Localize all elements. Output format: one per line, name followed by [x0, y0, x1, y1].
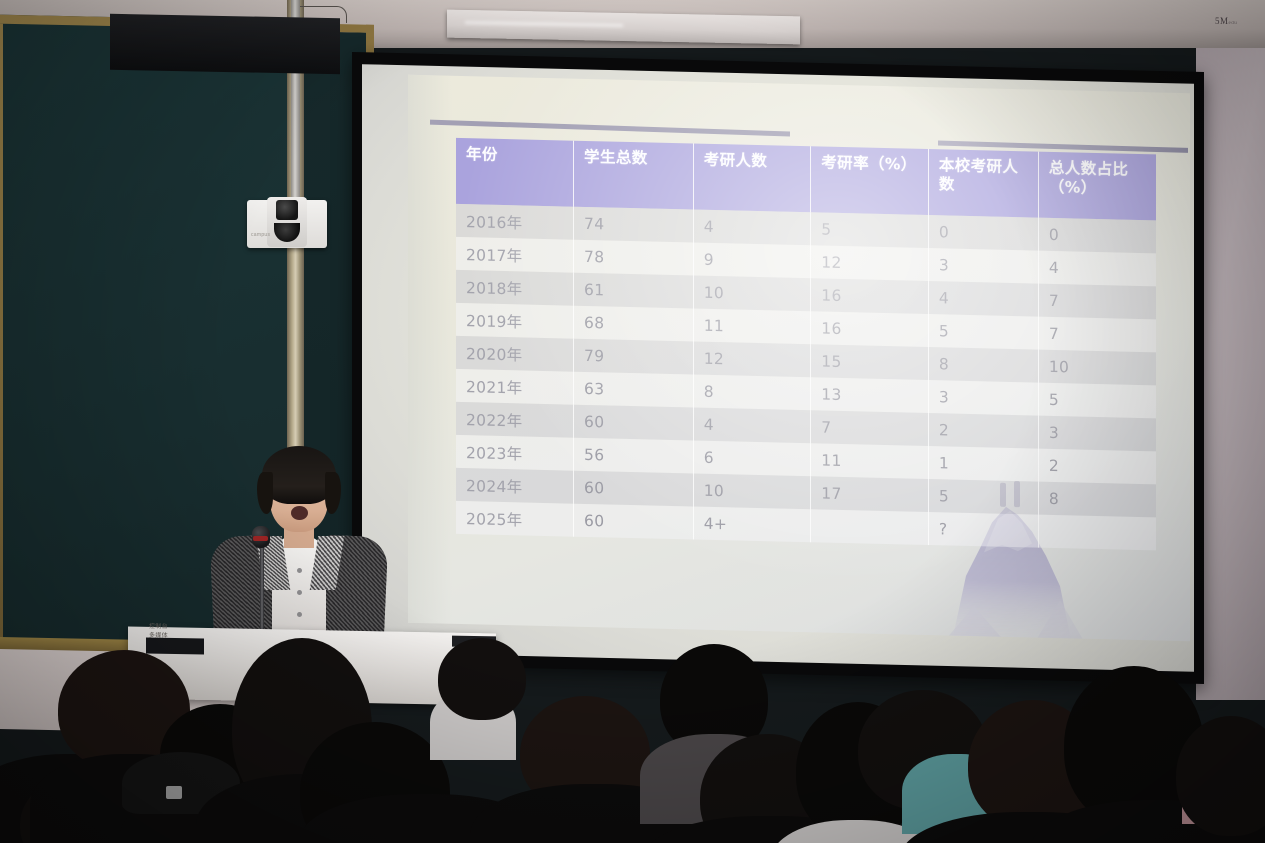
camera-lens-icon [276, 200, 298, 220]
presenter-mouth [291, 506, 308, 520]
statistics-table: 年份 学生总数 考研人数 考研率（%） 本校考研人数 总人数占比（%） 2016… [456, 138, 1156, 550]
cell-own-school-count: 8 [928, 347, 1038, 383]
cell-exam-rate: 12 [811, 245, 929, 281]
cell-total-students: 61 [574, 273, 694, 309]
cell-exam-rate: 15 [811, 344, 929, 380]
cell-total-students: 60 [574, 405, 694, 441]
cell-year: 2023年 [456, 435, 574, 471]
wall-logo-text: 5M [1215, 16, 1229, 26]
cell-share-of-total: 4 [1038, 251, 1156, 287]
cell-exam-rate: 11 [811, 443, 929, 479]
cell-exam-count: 11 [693, 309, 811, 345]
cell-share-of-total: 0 [1038, 218, 1156, 254]
column-header-exam-rate: 考研率（%） [811, 146, 929, 215]
wall-logo-sub: edu [1229, 21, 1238, 26]
cell-share-of-total: 8 [1038, 482, 1156, 518]
cell-share-of-total: 3 [1038, 416, 1156, 452]
camera-dome-icon [274, 223, 300, 242]
podium-monitor-panel [110, 14, 340, 74]
cell-exam-count: 6 [693, 441, 811, 477]
cell-exam-rate: 13 [811, 377, 929, 413]
camera-brand-label: campus [251, 232, 270, 238]
cell-year: 2016年 [456, 204, 574, 240]
presenter-button [297, 568, 302, 573]
slide-accent-bar-left [430, 120, 790, 137]
microphone-indicator [253, 536, 268, 541]
cell-own-school-count: 4 [928, 281, 1038, 317]
audience-head [438, 638, 526, 720]
cell-exam-rate: 17 [811, 476, 929, 512]
cell-exam-count: 9 [693, 243, 811, 279]
cell-own-school-count: 0 [928, 215, 1038, 251]
lecture-hall-photo: 5Medu campus [0, 0, 1265, 843]
cell-own-school-count: 3 [928, 380, 1038, 416]
cap-logo-icon [166, 786, 182, 799]
cell-year: 2019年 [456, 303, 574, 339]
cell-exam-rate: 16 [811, 311, 929, 347]
cell-own-school-count: 3 [928, 248, 1038, 284]
cell-total-students: 60 [574, 504, 694, 540]
cell-exam-count: 4 [693, 210, 811, 246]
cell-exam-rate [811, 509, 929, 545]
presenter-hair [262, 446, 336, 504]
cell-exam-rate: 16 [811, 278, 929, 314]
cell-exam-count: 12 [693, 342, 811, 378]
ptz-camera: campus [247, 200, 327, 248]
cell-year: 2018年 [456, 270, 574, 306]
cell-share-of-total: 2 [1038, 449, 1156, 485]
projected-slide: 年份 学生总数 考研人数 考研率（%） 本校考研人数 总人数占比（%） 2016… [408, 75, 1190, 641]
audience [0, 604, 1265, 843]
cell-total-students: 79 [574, 339, 694, 375]
cell-own-school-count: ? [928, 512, 1038, 548]
presenter-button [297, 590, 302, 595]
cell-exam-count: 4+ [693, 507, 811, 543]
column-header-own-school-count: 本校考研人数 [928, 149, 1038, 218]
cell-own-school-count: 2 [928, 413, 1038, 449]
column-header-total-students: 学生总数 [574, 141, 694, 210]
cell-exam-count: 10 [693, 474, 811, 510]
cell-share-of-total: 7 [1038, 284, 1156, 320]
cell-share-of-total [1038, 515, 1156, 551]
table-body: 2016年7445002017年78912342018年611016472019… [456, 204, 1156, 550]
cell-year: 2021年 [456, 369, 574, 405]
cell-total-students: 56 [574, 438, 694, 474]
cell-share-of-total: 10 [1038, 350, 1156, 386]
cell-exam-rate: 7 [811, 410, 929, 446]
cell-total-students: 60 [574, 471, 694, 507]
slide-left-shading [408, 75, 452, 624]
cell-exam-rate: 5 [811, 212, 929, 248]
right-wall [1196, 0, 1265, 700]
cell-total-students: 63 [574, 372, 694, 408]
cell-total-students: 78 [574, 240, 694, 276]
cell-own-school-count: 1 [928, 446, 1038, 482]
cell-total-students: 74 [574, 207, 694, 243]
cell-own-school-count: 5 [928, 479, 1038, 515]
column-header-year: 年份 [456, 138, 574, 207]
cell-own-school-count: 5 [928, 314, 1038, 350]
cell-year: 2017年 [456, 237, 574, 273]
column-header-exam-count: 考研人数 [693, 144, 811, 213]
cell-year: 2022年 [456, 402, 574, 438]
camera-body [267, 197, 307, 247]
cell-exam-count: 10 [693, 276, 811, 312]
cell-year: 2020年 [456, 336, 574, 372]
cell-share-of-total: 7 [1038, 317, 1156, 353]
cell-year: 2024年 [456, 468, 574, 504]
column-header-share-of-total: 总人数占比（%） [1038, 152, 1156, 221]
cell-total-students: 68 [574, 306, 694, 342]
cell-exam-count: 8 [693, 375, 811, 411]
wall-logo: 5Medu [1215, 16, 1255, 30]
cell-exam-count: 4 [693, 408, 811, 444]
cell-year: 2025年 [456, 501, 574, 537]
cell-share-of-total: 5 [1038, 383, 1156, 419]
